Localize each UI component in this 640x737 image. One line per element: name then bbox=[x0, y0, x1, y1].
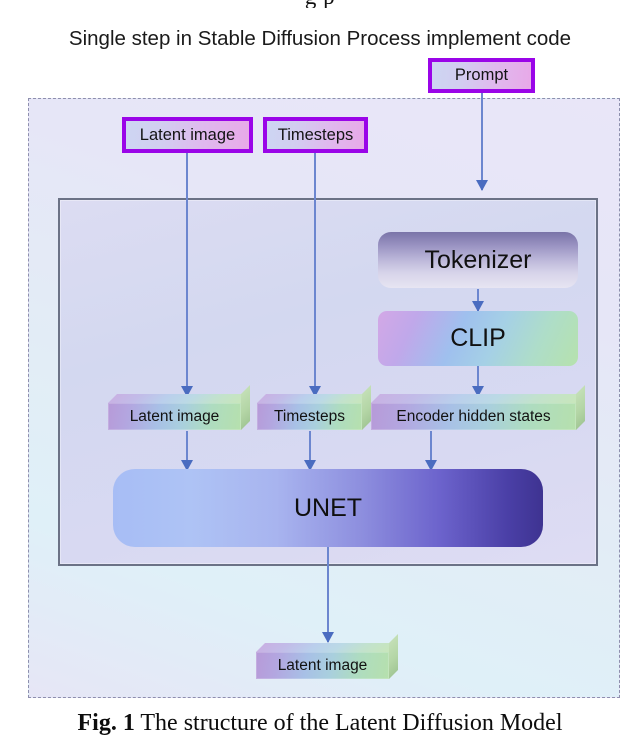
node-latent-image-input[interactable]: Latent image bbox=[122, 117, 253, 153]
arrow-shaft bbox=[481, 93, 484, 190]
arrow-encoder-to-unet bbox=[424, 431, 438, 470]
node-timesteps-input[interactable]: Timesteps bbox=[263, 117, 368, 153]
arrow-latent-top-to-mid bbox=[180, 153, 194, 396]
box3d-top-face bbox=[256, 643, 398, 652]
box3d-label: Latent image bbox=[108, 403, 241, 430]
figure-caption: Fig. 1 The structure of the Latent Diffu… bbox=[0, 710, 640, 737]
arrow-timesteps-top-to-mid bbox=[308, 153, 322, 396]
arrow-shaft bbox=[314, 153, 317, 396]
box3d-label: Encoder hidden states bbox=[371, 403, 576, 430]
clipped-top-text: g p bbox=[0, 0, 640, 8]
figure-heading: Single step in Stable Diffusion Process … bbox=[0, 27, 640, 51]
arrow-timesteps-to-unet bbox=[303, 431, 317, 470]
arrow-shaft bbox=[327, 547, 330, 642]
box3d-label: Timesteps bbox=[257, 403, 362, 430]
figure-caption-text: The structure of the Latent Diffusion Mo… bbox=[135, 710, 563, 736]
arrow-head-icon bbox=[322, 632, 334, 643]
box3d-top-face bbox=[257, 394, 371, 403]
node-timesteps-tensor[interactable]: Timesteps bbox=[257, 394, 362, 430]
figure-caption-label: Fig. 1 bbox=[77, 710, 134, 736]
arrow-latent-to-unet bbox=[180, 431, 194, 470]
node-tokenizer[interactable]: Tokenizer bbox=[378, 232, 578, 288]
box3d-top-face bbox=[108, 394, 250, 403]
arrow-tokenizer-to-clip bbox=[471, 289, 485, 311]
node-prompt[interactable]: Prompt bbox=[428, 58, 535, 93]
node-latent-image-tensor[interactable]: Latent image bbox=[108, 394, 241, 430]
arrow-unet-to-output bbox=[321, 547, 335, 642]
node-encoder-hidden-states-tensor[interactable]: Encoder hidden states bbox=[371, 394, 576, 430]
node-unet[interactable]: UNET bbox=[113, 469, 543, 547]
box3d-label: Latent image bbox=[256, 652, 389, 679]
arrow-prompt-to-tokenizer bbox=[475, 93, 489, 190]
node-latent-image-output[interactable]: Latent image bbox=[256, 643, 389, 679]
box3d-top-face bbox=[371, 394, 585, 403]
arrow-head-icon bbox=[476, 180, 488, 191]
arrow-shaft bbox=[186, 153, 189, 396]
node-clip[interactable]: CLIP bbox=[378, 311, 578, 366]
arrow-clip-to-encoder-hidden-states bbox=[471, 366, 485, 396]
